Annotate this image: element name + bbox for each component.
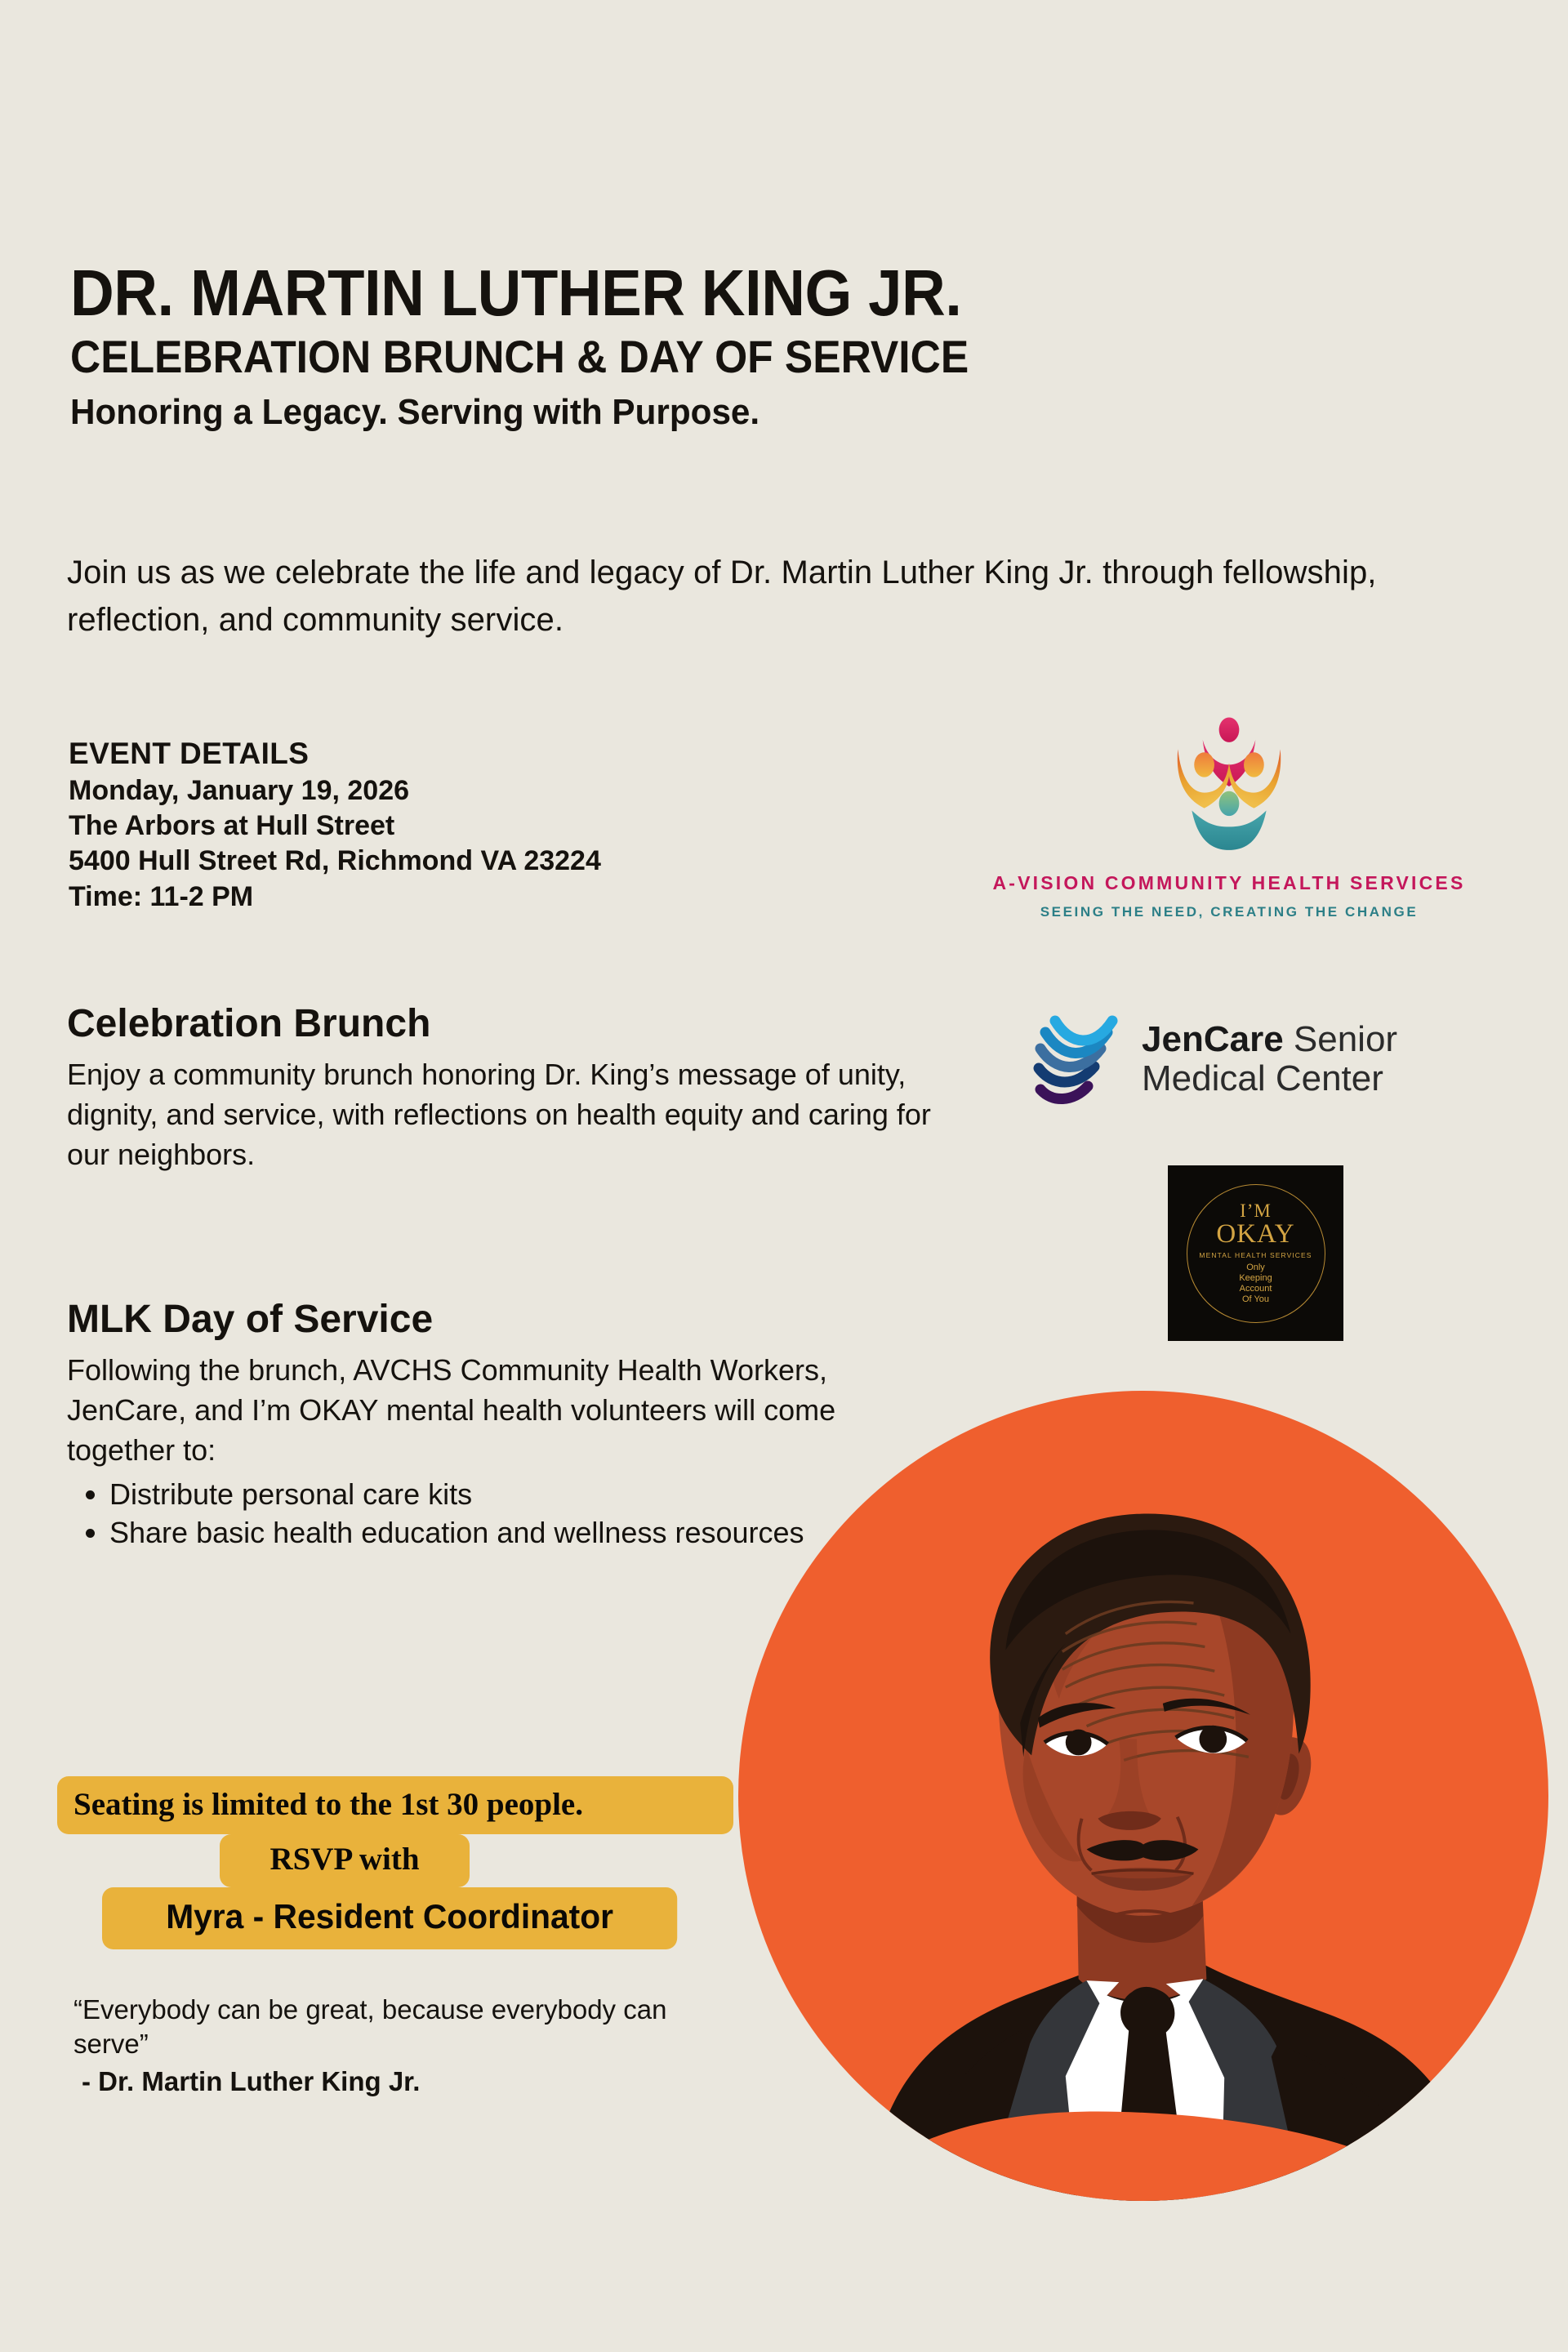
quote-attribution: - Dr. Martin Luther King Jr. <box>73 2065 710 2099</box>
page-title: DR. MARTIN LUTHER KING JR. <box>70 261 1209 325</box>
event-time: Time: 11-2 PM <box>69 880 885 915</box>
event-details-block: EVENT DETAILS Monday, January 19, 2026 T… <box>69 735 885 915</box>
headline-block: DR. MARTIN LUTHER KING JR. CELEBRATION B… <box>70 261 1295 432</box>
event-venue: The Arbors at Hull Street <box>69 808 885 844</box>
flyer-page: DR. MARTIN LUTHER KING JR. CELEBRATION B… <box>0 0 1568 2352</box>
imokay-line1: I’M <box>1240 1201 1272 1220</box>
intro-paragraph: Join us as we celebrate the life and leg… <box>67 549 1406 644</box>
page-tagline: Honoring a Legacy. Serving with Purpose. <box>70 393 1246 432</box>
section-celebration-brunch: Celebration Brunch Enjoy a community bru… <box>67 1003 933 1175</box>
page-subtitle: CELEBRATION BRUNCH & DAY OF SERVICE <box>70 333 1197 381</box>
quote-block: “Everybody can be great, because everybo… <box>73 1993 710 2100</box>
logo-avision: A-VISION COMMUNITY HEALTH SERVICES SEEIN… <box>964 709 1494 920</box>
imokay-badge-icon: I’M OKAY MENTAL HEALTH SERVICES OnlyKeep… <box>1187 1184 1325 1323</box>
three-figures-circle-icon <box>1151 709 1307 864</box>
logo-imokay: I’M OKAY MENTAL HEALTH SERVICES OnlyKeep… <box>1168 1165 1343 1341</box>
event-address: 5400 Hull Street Rd, Richmond VA 23224 <box>69 844 885 879</box>
rsvp-with-banner: RSVP with <box>220 1834 470 1887</box>
imokay-line2: OKAY <box>1216 1220 1294 1249</box>
mlk-portrait-svg <box>738 1391 1548 2201</box>
avision-name: A-VISION COMMUNITY HEALTH SERVICES <box>964 872 1494 894</box>
jencare-brand: JenCare <box>1142 1019 1284 1059</box>
jencare-swoosh-icon <box>1031 1011 1129 1107</box>
event-details-heading: EVENT DETAILS <box>69 735 885 773</box>
mlk-portrait-illustration <box>738 1391 1548 2201</box>
imokay-line4: OnlyKeepingAccountOf You <box>1239 1263 1272 1305</box>
section-body: Enjoy a community brunch honoring Dr. Ki… <box>67 1054 933 1175</box>
seating-limit-banner: Seating is limited to the 1st 30 people. <box>57 1776 733 1834</box>
imokay-line3: MENTAL HEALTH SERVICES <box>1199 1251 1312 1259</box>
rsvp-highlight-group: Seating is limited to the 1st 30 people.… <box>57 1776 759 1949</box>
avision-tagline: SEEING THE NEED, CREATING THE CHANGE <box>964 904 1494 920</box>
event-date: Monday, January 19, 2026 <box>69 773 885 808</box>
section-title: MLK Day of Service <box>67 1298 933 1342</box>
jencare-wordmark: JenCare Senior Medical Center <box>1142 1022 1397 1097</box>
jencare-brand-suffix: Senior <box>1284 1019 1397 1059</box>
logo-jencare: JenCare Senior Medical Center <box>1031 1011 1397 1107</box>
rsvp-contact-banner[interactable]: Myra - Resident Coordinator <box>102 1887 677 1949</box>
quote-text: “Everybody can be great, because everybo… <box>73 1993 710 2061</box>
section-title: Celebration Brunch <box>67 1003 933 1046</box>
jencare-line2: Medical Center <box>1142 1061 1397 1097</box>
